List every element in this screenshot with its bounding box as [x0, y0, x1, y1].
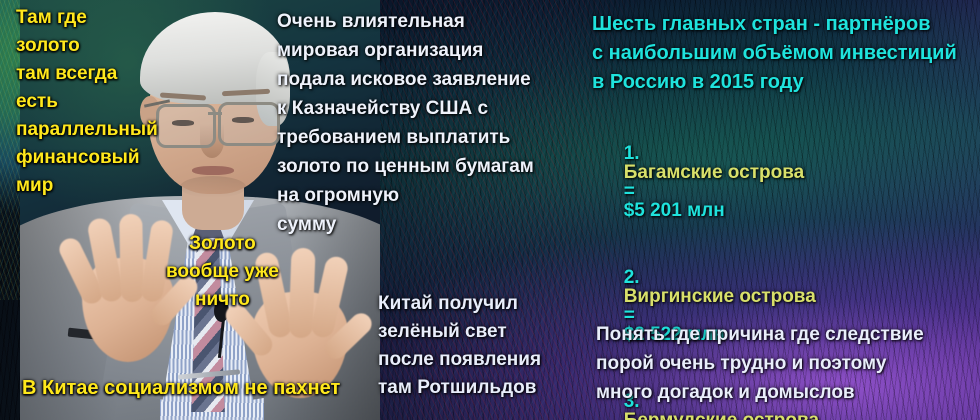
middle-caption-line: на огромную	[277, 186, 534, 205]
eyeglass-lens-right	[218, 102, 280, 146]
china-rothschild-line: зелёный свет	[378, 322, 541, 341]
list-item-rank: 1.	[624, 143, 645, 164]
list-item-amount: $5 201 млн	[624, 200, 725, 221]
left-caption-line: есть	[16, 92, 158, 111]
left-caption-line: финансовый	[16, 148, 158, 167]
middle-caption-line: Очень влиятельная	[277, 12, 534, 31]
left-caption-line: золото	[16, 36, 158, 55]
footer-caption-line: много догадок и домыслов	[596, 383, 924, 402]
eyeglass-lens-left	[156, 104, 216, 148]
eyeglass-bridge	[208, 112, 222, 115]
gold-caption-line: вообще уже	[166, 262, 279, 281]
chin-shadow	[180, 176, 246, 198]
footer-caption-line: Понять где причина где следствие	[596, 325, 924, 344]
left-caption-line: мир	[16, 176, 158, 195]
china-rothschild-line: Китай получил	[378, 294, 541, 313]
china-caption: В Китае социализмом не пахнет	[22, 378, 340, 398]
china-rothschild-line: после появления	[378, 350, 541, 369]
gold-caption-line: Золото	[166, 234, 279, 253]
investment-heading-line: с наибольшим объёмом инвестиций	[592, 43, 957, 63]
middle-caption-line: сумму	[277, 215, 534, 234]
investment-heading: Шесть главных стран - партнёров с наибол…	[592, 14, 957, 101]
investment-heading-line: в Россию в 2015 году	[592, 72, 957, 92]
left-caption-line: параллельный	[16, 120, 158, 139]
middle-caption: Очень влиятельная мировая организация по…	[277, 12, 534, 244]
left-caption-line: Там где	[16, 8, 158, 27]
middle-caption-line: мировая организация	[277, 41, 534, 60]
china-rothschild-line: там Ротшильдов	[378, 378, 541, 397]
list-item-separator: =	[624, 305, 640, 326]
mouth	[192, 166, 234, 175]
left-caption-line: там всегда	[16, 64, 158, 83]
list-item-country: Виргинские острова	[624, 286, 821, 307]
list-item-country: Багамские острова	[624, 162, 810, 183]
left-caption: Там где золото там всегда есть параллель…	[16, 8, 158, 204]
middle-caption-line: подала исковое заявление	[277, 70, 534, 89]
gold-caption-line: ничто	[166, 290, 279, 309]
china-rothschild-caption: Китай получил зелёный свет после появлен…	[378, 294, 541, 406]
image-canvas: Там где золото там всегда есть параллель…	[0, 0, 980, 420]
middle-caption-line: золото по ценным бумагам	[277, 157, 534, 176]
list-item-rank: 2.	[624, 267, 645, 288]
middle-caption-line: к Казначейству США с	[277, 99, 534, 118]
middle-caption-line: требованием выплатить	[277, 128, 534, 147]
gold-caption: Золото вообще уже ничто	[166, 234, 279, 318]
investment-heading-line: Шесть главных стран - партнёров	[592, 14, 957, 34]
footer-caption-line: порой очень трудно и поэтому	[596, 354, 924, 373]
list-item-separator: =	[624, 181, 640, 202]
footer-caption: Понять где причина где следствие порой о…	[596, 325, 924, 412]
list-item: 1. Багамские острова = $5 201 млн	[592, 125, 824, 239]
